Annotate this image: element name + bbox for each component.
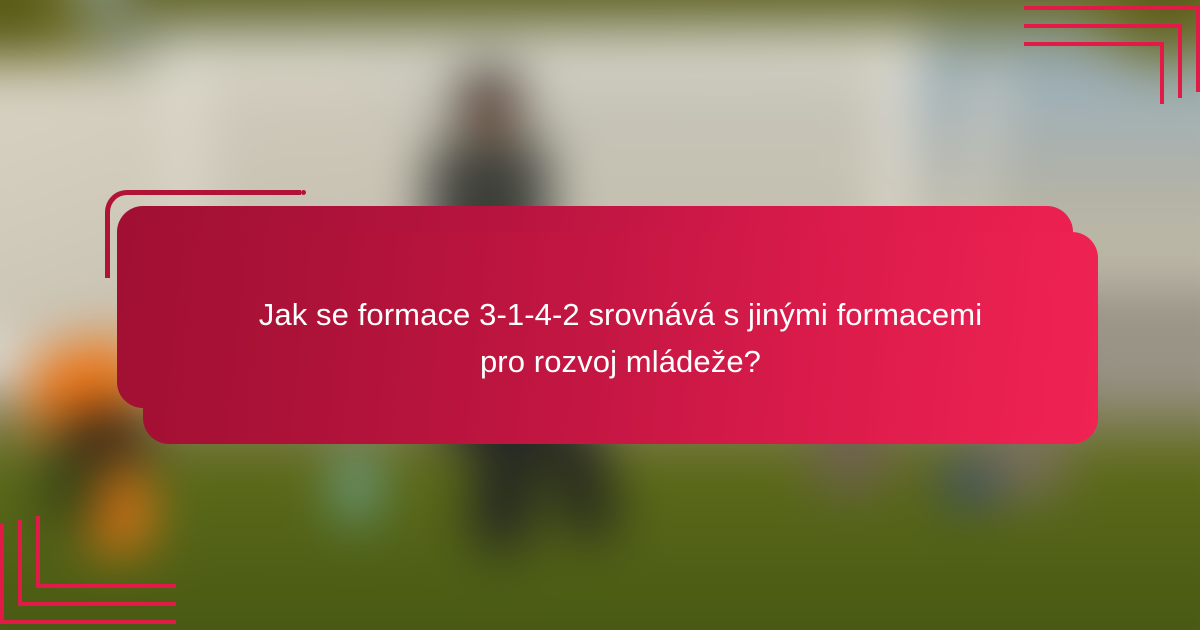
deco-line-v-6 [36, 516, 40, 588]
deco-line-v-1 [1196, 6, 1200, 92]
headline-card: Jak se formace 3-1-4-2 srovnává s jinými… [143, 232, 1098, 444]
deco-line-h-2 [1024, 24, 1182, 28]
corner-decoration-bottom-left [0, 490, 220, 630]
deco-line-h-5 [18, 602, 176, 606]
deco-line-h-6 [36, 584, 176, 588]
background-blue-object [940, 460, 998, 504]
corner-decoration-top-right [980, 0, 1200, 120]
deco-line-v-2 [1178, 24, 1182, 98]
deco-line-v-3 [1160, 42, 1164, 104]
background-training-cone [338, 454, 374, 520]
social-card-canvas: Jak se formace 3-1-4-2 srovnává s jinými… [0, 0, 1200, 630]
deco-line-h-4 [0, 620, 176, 624]
deco-line-h-3 [1024, 42, 1164, 46]
deco-line-v-4 [0, 524, 4, 624]
deco-line-h-1 [1024, 6, 1200, 10]
headline-text: Jak se formace 3-1-4-2 srovnává s jinými… [231, 291, 1011, 385]
background-player-leg [471, 430, 537, 552]
deco-line-v-5 [18, 520, 22, 606]
